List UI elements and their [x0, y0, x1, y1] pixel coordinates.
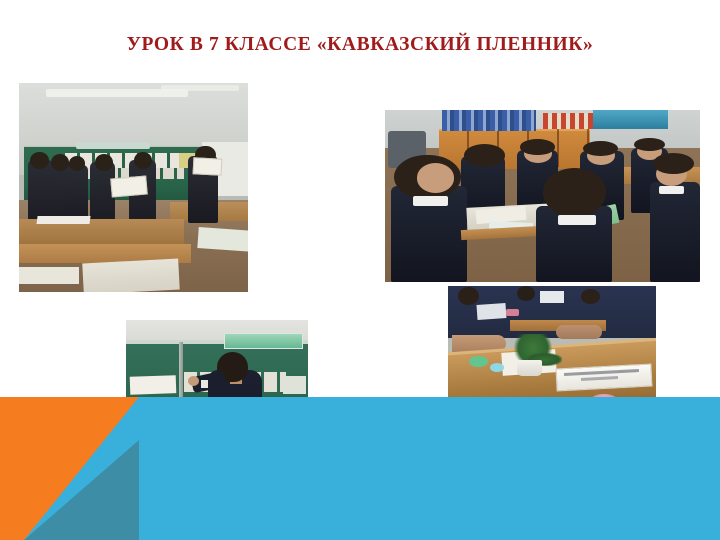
photo-board-boy [126, 320, 308, 520]
photo1-board-lamp [76, 142, 149, 149]
decor-blue-band [0, 397, 720, 540]
photo3-board-divider [179, 342, 184, 450]
photo2-student [650, 182, 700, 282]
photo4-sticker [589, 394, 618, 411]
presentation-slide: УРОК В 7 КЛАССЕ «КАВКАЗСКИЙ ПЛЕННИК» [0, 0, 720, 540]
photo1-papers [197, 227, 248, 252]
decor-orange-band [0, 397, 139, 540]
photo2-student-head [520, 139, 555, 154]
photo4-paper [477, 303, 507, 320]
photo1-worksheet [193, 157, 223, 175]
photo3-boy-cuff [201, 380, 208, 388]
photo3-card [129, 375, 175, 395]
photo2-student-face [417, 163, 455, 192]
photo1-papers [37, 216, 91, 224]
photo2-student-head [653, 153, 694, 174]
photo1-papers [19, 267, 79, 284]
photo-classroom-standing [19, 83, 248, 292]
photo3-card [126, 408, 139, 436]
photo3-card [142, 406, 177, 420]
photo3-pictures-right [283, 376, 307, 394]
photo2-shelf-books [442, 110, 537, 131]
photo4-student-head [581, 289, 600, 304]
photo4-green-item [469, 356, 488, 368]
photo2-collar [558, 215, 596, 225]
photo3-banner [224, 333, 302, 349]
photo1-worksheet [110, 175, 148, 197]
page-title: УРОК В 7 КЛАССЕ «КАВКАЗСКИЙ ПЛЕННИК» [0, 34, 720, 56]
photo2-shelf-items [543, 113, 600, 128]
photo4-pink-item [506, 309, 518, 315]
photo2-student-head [464, 144, 505, 166]
photo2-collar [413, 196, 448, 206]
photo2-wall-poster [593, 110, 669, 129]
photo1-papers [82, 258, 180, 292]
photo1-student-head [30, 152, 48, 169]
photo4-pot [517, 360, 542, 377]
photo-desk-project [448, 286, 656, 415]
photo2-student-head [543, 168, 606, 216]
decor-blue-wedge [0, 397, 139, 540]
photo1-student-head [134, 152, 152, 169]
photo1-student-head [95, 154, 113, 171]
photo3-boy-hand [188, 376, 199, 386]
photo4-arm [556, 325, 602, 339]
photo-group-work [385, 110, 700, 282]
photo1-ceiling-light-2 [161, 85, 239, 91]
photo2-collar [659, 186, 684, 195]
photo4-paper [540, 291, 565, 303]
